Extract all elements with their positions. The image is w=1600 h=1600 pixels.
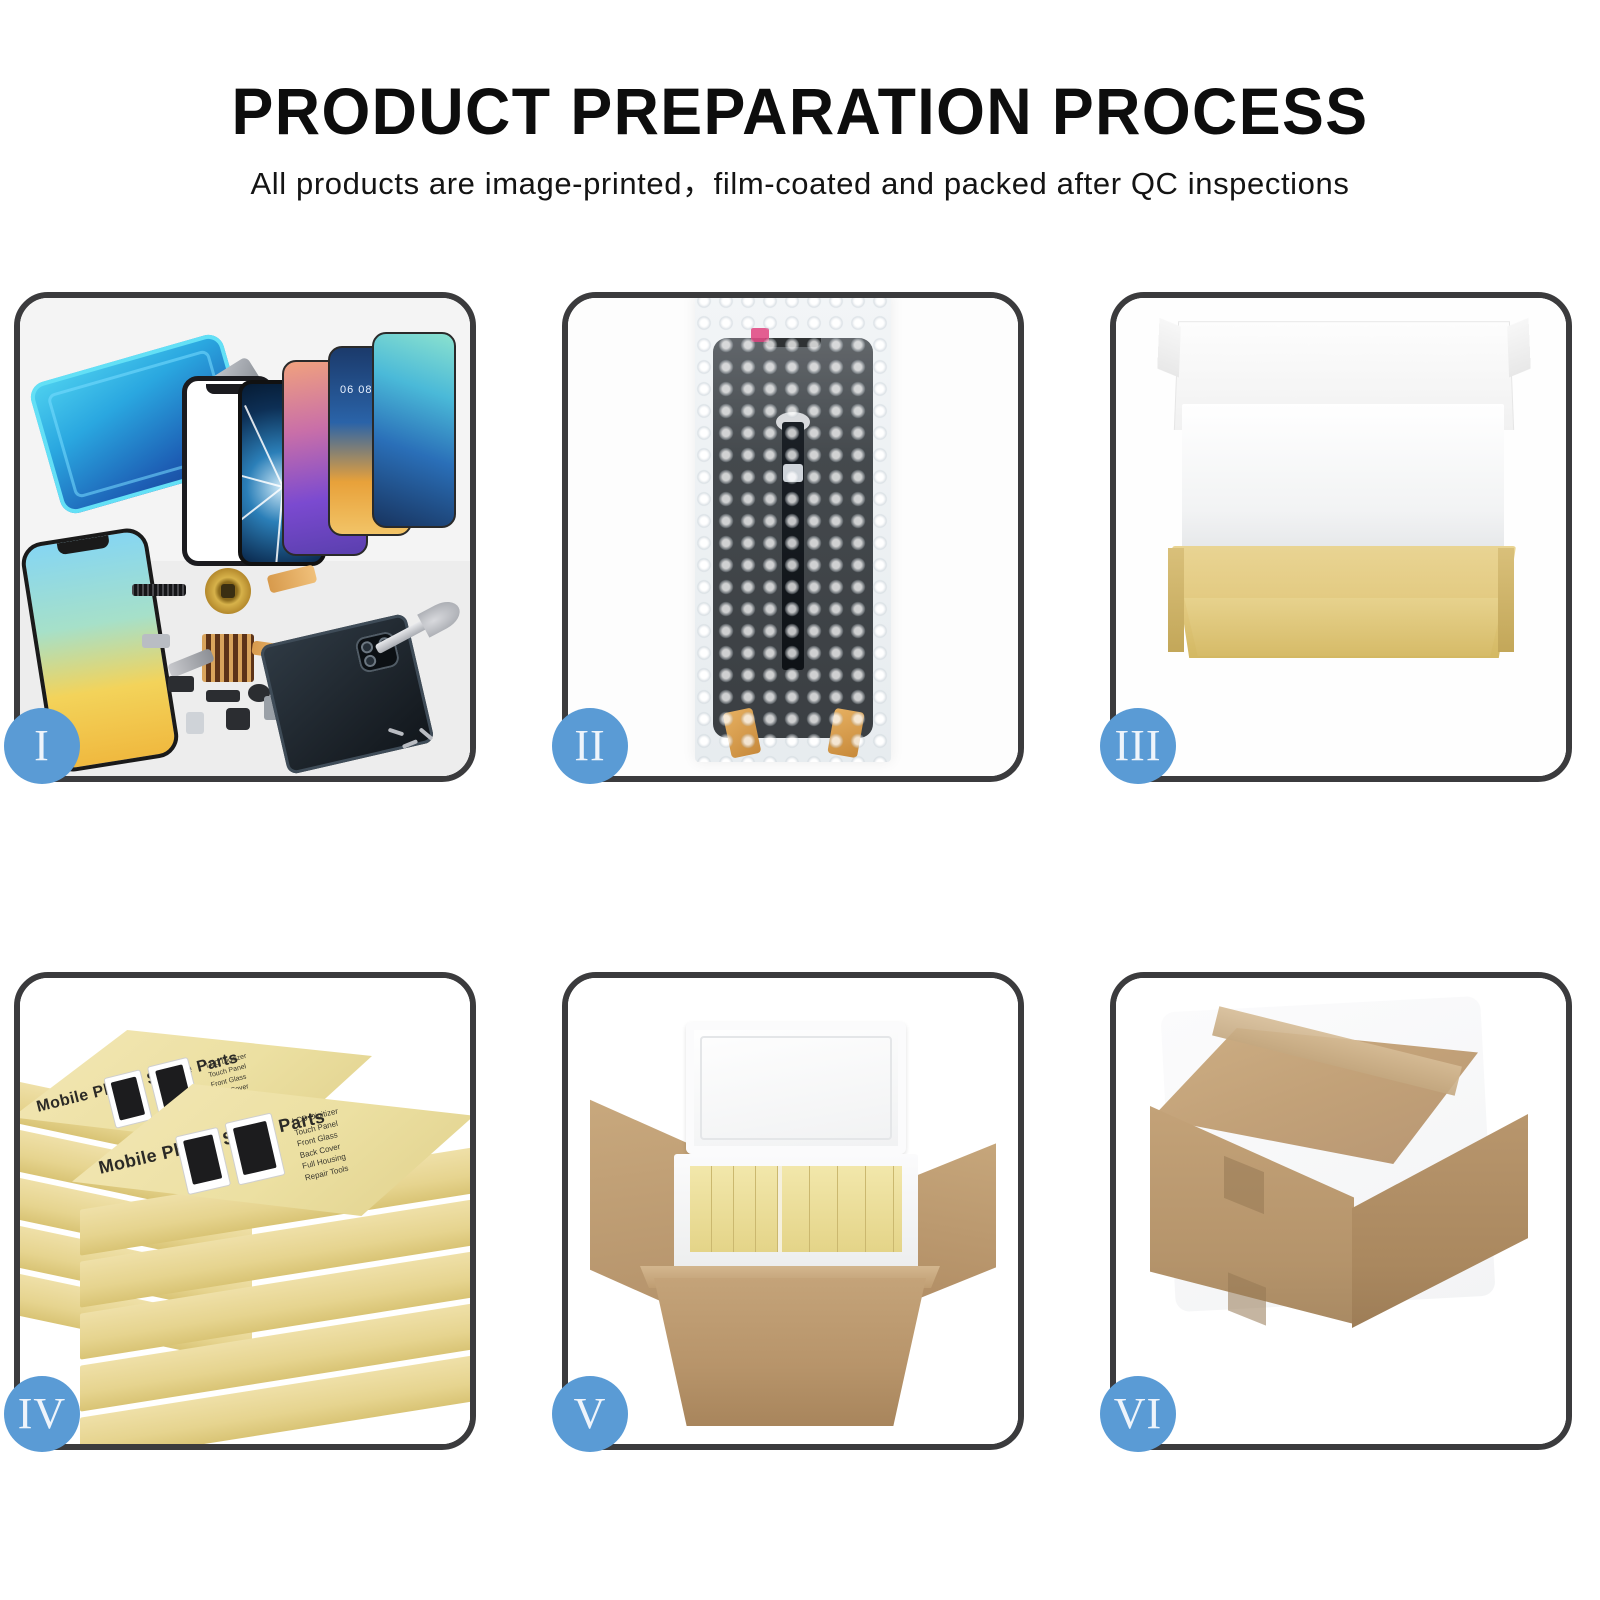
step-card-3[interactable]: III <box>1110 292 1572 782</box>
scene-carton-with-foam-insert <box>568 978 1018 1444</box>
flex-cable-ribbon <box>782 422 804 670</box>
step-card-4-image: Mobile Phone Spare Parts LCD Digitizer T… <box>20 978 470 1444</box>
scene-bubble-wrapped-screen <box>568 298 1018 776</box>
screen-notch <box>765 338 821 347</box>
carton-body <box>654 1278 926 1426</box>
bubble-wrap-pouch <box>695 298 891 762</box>
scene-sealed-shipping-carton <box>1116 978 1566 1444</box>
step-card-1[interactable]: 06 08 <box>14 292 476 782</box>
step-card-4[interactable]: Mobile Phone Spare Parts LCD Digitizer T… <box>14 972 476 1450</box>
white-foam-sheet <box>1182 404 1504 556</box>
gold-boxes-inside-foam <box>690 1166 902 1252</box>
step-badge-3: III <box>1100 708 1176 784</box>
tray-side-right <box>1498 548 1514 652</box>
step-card-5-image <box>568 978 1018 1444</box>
flex-cable-chip <box>783 464 803 482</box>
step-card-3-image <box>1116 298 1566 776</box>
step-card-6[interactable]: VI <box>1110 972 1572 1450</box>
foam-cooler-lid <box>686 1022 906 1154</box>
step-badge-5: V <box>552 1376 628 1452</box>
step-badge-1: I <box>4 708 80 784</box>
scene-stacked-retail-boxes: Mobile Phone Spare Parts LCD Digitizer T… <box>20 978 470 1444</box>
step-card-1-image: 06 08 <box>20 298 470 776</box>
step-badge-6: VI <box>1100 1376 1176 1452</box>
step-badge-4: IV <box>4 1376 80 1452</box>
scene-phone-parts-assortment: 06 08 <box>20 298 470 776</box>
scene-open-inner-box <box>1116 298 1566 776</box>
wireless-charging-coil <box>205 568 251 614</box>
step-card-2[interactable]: II <box>562 292 1024 782</box>
process-step-grid: 06 08 <box>0 0 1600 1600</box>
earpiece-speaker-part <box>132 584 186 596</box>
screwdriver-tools <box>388 726 448 760</box>
step-card-6-image <box>1116 978 1566 1444</box>
tray-side-left <box>1168 548 1184 652</box>
phone-clock-text: 06 08 <box>340 384 373 396</box>
infographic-page: PRODUCT PREPARATION PROCESS All products… <box>0 0 1600 1600</box>
step-card-5[interactable]: V <box>562 972 1024 1450</box>
gold-contact-tab-right <box>827 708 865 759</box>
pink-qc-marker <box>751 328 769 342</box>
step-badge-2: II <box>552 708 628 784</box>
kraft-tray-front <box>1174 598 1514 656</box>
step-card-2-image <box>568 298 1018 776</box>
phone-mockup-teal <box>372 332 456 528</box>
